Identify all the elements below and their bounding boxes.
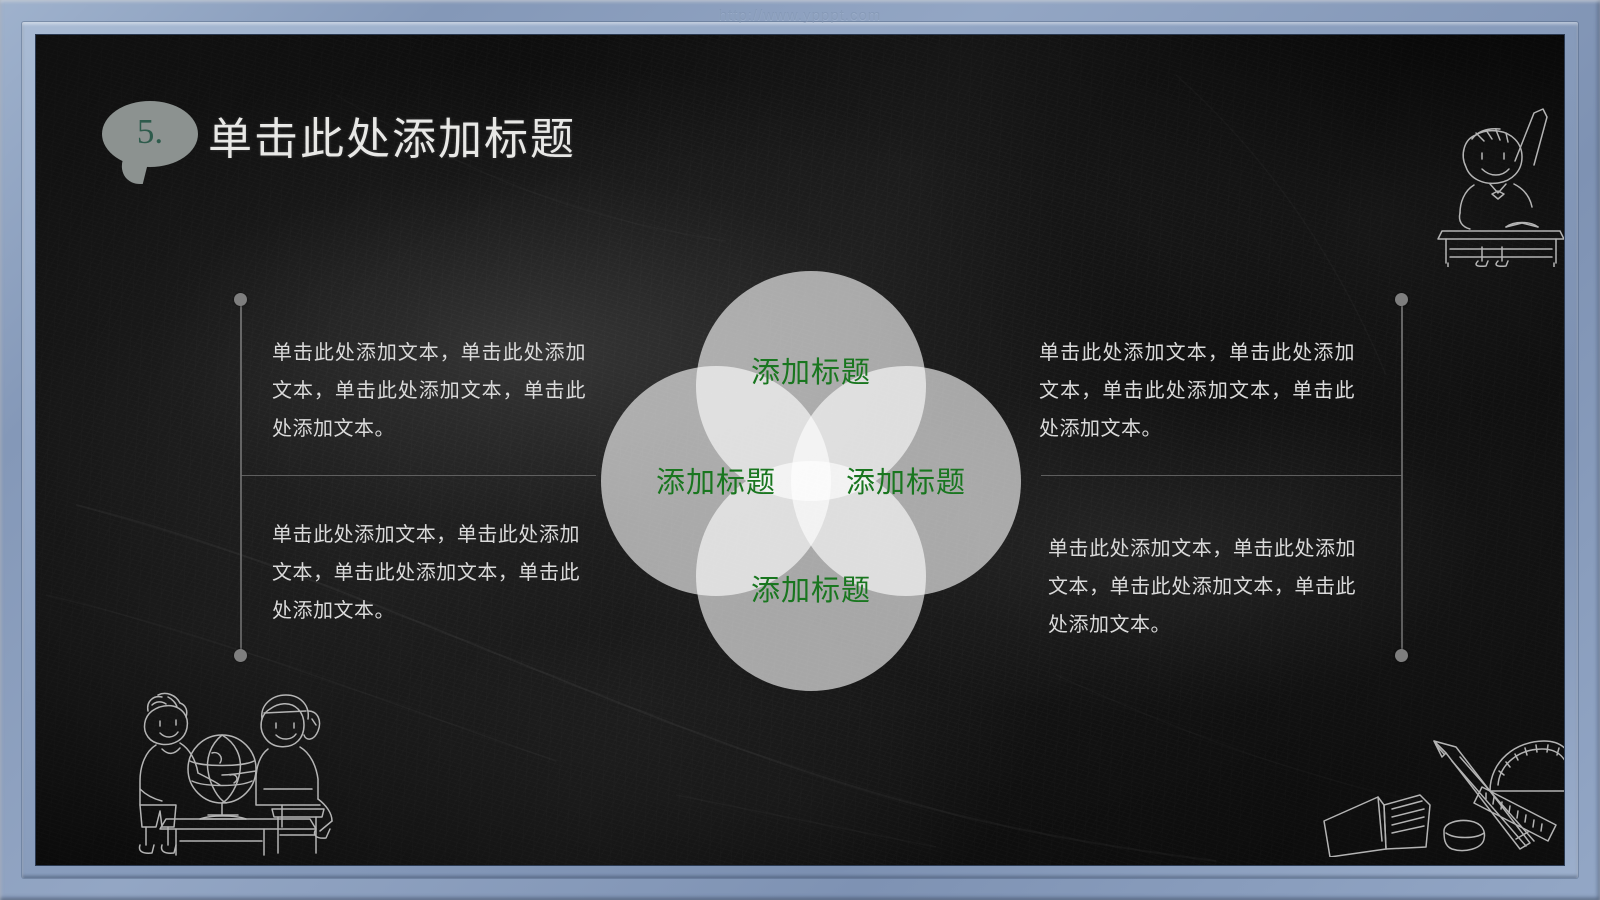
slide-header: 5. 单击此处添加标题 (36, 35, 1564, 185)
petal-top-label: 添加标题 (696, 349, 926, 391)
four-petal-diagram: 添加标题 添加标题 添加标题 添加标题 (601, 271, 1021, 691)
content-block-bottom-right: 单击此处添加文本，单击此处添加文本，单击此处添加文本，单击此处添加文本。 (1048, 530, 1356, 644)
student-raising-hand-icon (1414, 87, 1564, 267)
petal-left-label: 添加标题 (601, 459, 831, 501)
left-horizontal-divider (241, 475, 596, 476)
content-block-top-right: 单击此处添加文本，单击此处添加文本，单击此处添加文本，单击此处添加文本。 (1039, 334, 1355, 448)
content-block-top-left: 单击此处添加文本，单击此处添加文本，单击此处添加文本，单击此处添加文本。 (272, 334, 586, 448)
content-block-bottom-left: 单击此处添加文本，单击此处添加文本，单击此处添加文本，单击此处添加文本。 (272, 516, 580, 630)
petal-bottom-label: 添加标题 (696, 567, 926, 609)
page-title: 单击此处添加标题 (208, 103, 576, 167)
right-vertical-rail (1401, 299, 1403, 655)
slide-frame: http://www.ypppt.com 5. 单击此处添加标题 (0, 0, 1600, 900)
children-with-globe-icon (114, 649, 358, 857)
right-horizontal-divider (1041, 475, 1402, 476)
left-vertical-rail (240, 299, 242, 655)
section-number-badge: 5. (102, 101, 198, 167)
chalkboard-canvas: 5. 单击此处添加标题 添加标题 添加标题 添加标题 添加标题 单击此处添加文本… (36, 35, 1564, 865)
right-bottom-rail-dot (1395, 649, 1408, 662)
right-top-rail-dot (1395, 293, 1408, 306)
badge-number-text: 5. (102, 101, 198, 167)
left-top-rail-dot (234, 293, 247, 306)
school-supplies-icon (1294, 721, 1564, 857)
